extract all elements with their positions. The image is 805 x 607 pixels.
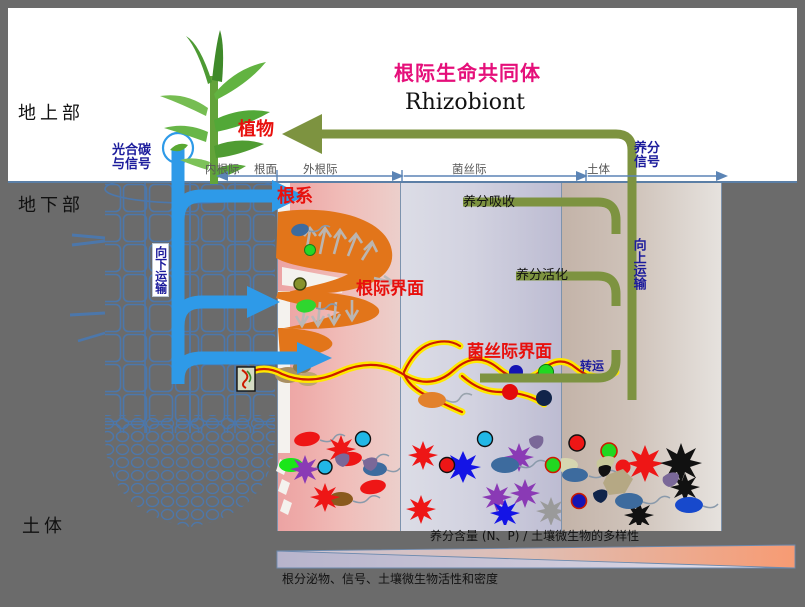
diagram-canvas: 根际生命共同体 Rhizobiont 地上部 地下部 土体 光合碳 与信号 养分… xyxy=(0,0,805,607)
label-above-ground: 地上部 xyxy=(18,105,84,124)
microbes-rhizosphere xyxy=(277,425,401,525)
legend-top-gradient: 养分含量 (N、P) / 土壤微生物的多样性 xyxy=(430,530,639,543)
label-photosynthate-line1: 光合碳 xyxy=(112,144,151,158)
legend-bottom-gradient: 根分泌物、信号、土壤微生物活性和密度 xyxy=(282,573,498,586)
title-chinese: 根际生命共同体 xyxy=(394,63,541,84)
microbes-hyphosphere xyxy=(401,425,561,525)
label-translocation: 转运 xyxy=(580,360,604,373)
label-upward-transport: 向上运输 xyxy=(631,238,645,290)
label-nutrient-signal: 养分 信号 xyxy=(634,142,660,169)
label-photosynthate: 光合碳 与信号 xyxy=(112,144,151,171)
label-downward-transport: 向下运输 xyxy=(152,243,169,297)
zone-label-hyphosphere: 菌丝际 xyxy=(452,163,487,175)
label-rhizosphere-interface: 根际界面 xyxy=(356,281,424,299)
gradient-wedges xyxy=(275,544,797,570)
zone-label-endorhizosphere: 内根际 xyxy=(205,163,240,175)
label-nutrient-signal-line1: 养分 xyxy=(634,142,660,156)
label-nutrient-uptake: 养分吸收 xyxy=(463,196,515,210)
label-bulk-soil: 土体 xyxy=(22,518,66,537)
label-below-ground: 地下部 xyxy=(18,197,84,216)
label-root-system: 根系 xyxy=(277,188,313,207)
zone-label-rhizoplane: 根面 xyxy=(254,163,277,175)
label-photosynthate-line2: 与信号 xyxy=(112,158,151,172)
zone-label-bulk: 土体 xyxy=(587,163,610,175)
label-plant: 植物 xyxy=(238,121,274,140)
zone-divider-4 xyxy=(721,183,722,531)
label-nutrient-activation: 养分活化 xyxy=(516,269,568,283)
label-nutrient-signal-line2: 信号 xyxy=(634,156,660,170)
label-hyphosphere-interface: 菌丝际界面 xyxy=(467,344,552,362)
microbes-bulk-soil xyxy=(561,425,721,525)
mycorrhiza-icon xyxy=(236,366,256,392)
zone-label-ectorhizosphere: 外根际 xyxy=(303,163,338,175)
title-english: Rhizobiont xyxy=(405,91,525,114)
